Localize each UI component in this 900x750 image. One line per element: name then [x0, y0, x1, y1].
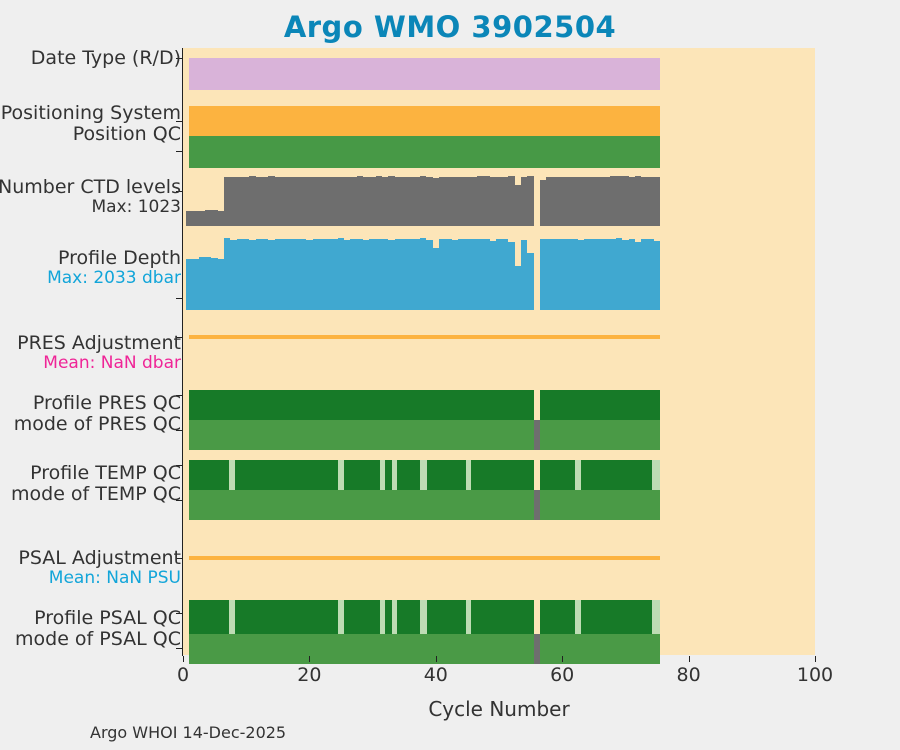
ylabel-number-ctd-levels: Number CTD levels Max: 1023: [0, 177, 181, 217]
qc-segment-alt: [466, 600, 472, 634]
chart-track-profile-pres-qc: [183, 390, 815, 420]
ylabel-text: Profile TEMP QC: [0, 463, 181, 484]
qc-segment-alt: [338, 460, 344, 490]
chart-track-position-qc: [183, 136, 815, 168]
ylabel-pres-adjustment: PRES Adjustment Mean: NaN dbar: [0, 333, 181, 373]
qc-segment: [189, 490, 534, 520]
ylabel-positioning-system: Positioning System Position QC: [0, 103, 181, 146]
footer-credit: Argo WHOI 14-Dec-2025: [90, 723, 286, 742]
chart-track-mode-of-temp-qc: [183, 490, 815, 520]
qc-segment-alt: [380, 600, 384, 634]
qc-segment-alt: [420, 460, 427, 490]
chart-track-profile-temp-qc: [183, 460, 815, 490]
chart-track-psal-adjustment: [183, 556, 815, 560]
qc-segment-alt: [338, 600, 344, 634]
qc-segment-alt: [392, 460, 397, 490]
band-segment: [189, 556, 660, 560]
qc-segment-missing: [534, 420, 540, 450]
qc-segment: [540, 420, 660, 450]
qc-segment-alt: [466, 460, 472, 490]
ylabel-sublabel: Max: 1023: [0, 198, 181, 217]
qc-segment: [540, 460, 660, 490]
qc-segment: [189, 460, 534, 490]
x-axis-tick-label: 60: [550, 664, 574, 686]
qc-segment-alt: [392, 600, 397, 634]
qc-segment: [189, 600, 534, 634]
x-axis-title: Cycle Number: [183, 697, 815, 721]
ylabel-text: Profile PSAL QC: [0, 608, 181, 629]
data-bar: [654, 241, 660, 310]
band-segment: [189, 335, 660, 339]
ylabel-profile-psal-qc: Profile PSAL QC mode of PSAL QC: [0, 608, 181, 651]
page-title: Argo WMO 3902504: [0, 10, 900, 44]
ylabel-text: PRES Adjustment: [0, 333, 181, 354]
x-axis-tick: [562, 656, 563, 662]
qc-segment: [540, 390, 660, 420]
ylabel-sublabel: Max: 2033 dbar: [0, 269, 181, 288]
qc-segment-alt: [575, 600, 581, 634]
qc-segment-missing: [534, 490, 540, 520]
ylabel-sublabel: Mean: NaN PSU: [0, 569, 181, 588]
x-axis-tick-label: 40: [424, 664, 448, 686]
qc-segment-alt: [380, 460, 384, 490]
x-axis-tick-label: 80: [677, 664, 701, 686]
chart-track-profile-depth: [183, 238, 815, 310]
x-axis: 020406080100: [183, 656, 815, 696]
ylabel-text: Number CTD levels: [0, 177, 181, 198]
data-bar: [527, 253, 533, 310]
ylabel-psal-adjustment: PSAL Adjustment Mean: NaN PSU: [0, 548, 181, 588]
ylabel-text: mode of TEMP QC: [0, 484, 181, 505]
x-axis-tick-label: 100: [797, 664, 833, 686]
qc-segment-alt: [229, 460, 235, 490]
ylabel-text: Positioning System: [0, 103, 181, 124]
x-axis-tick: [689, 656, 690, 662]
y-axis-line: [182, 48, 183, 656]
chart-track-mode-of-pres-qc: [183, 420, 815, 450]
qc-segment: [189, 390, 534, 420]
band-segment: [189, 58, 660, 90]
qc-segment: [540, 600, 660, 634]
qc-segment-alt: [652, 600, 660, 634]
chart-plot-area: [183, 48, 815, 655]
chart-track-pres-adjustment: [183, 335, 815, 339]
band-segment: [189, 136, 660, 168]
x-axis-tick: [436, 656, 437, 662]
ylabel-profile-depth: Profile Depth Max: 2033 dbar: [0, 248, 181, 288]
ylabel-profile-temp-qc: Profile TEMP QC mode of TEMP QC: [0, 463, 181, 506]
chart-track-number-ctd-levels: [183, 176, 815, 226]
x-axis-tick: [815, 656, 816, 662]
qc-segment-alt: [420, 600, 427, 634]
ylabel-sublabel: Mean: NaN dbar: [0, 354, 181, 373]
ylabel-text: mode of PRES QC: [0, 414, 181, 435]
x-axis-tick: [309, 656, 310, 662]
ylabel-date-type: Date Type (R/D): [0, 48, 181, 69]
data-bar: [527, 176, 533, 226]
y-axis-tick: [176, 151, 182, 152]
ylabel-text: Profile Depth: [0, 248, 181, 269]
ylabel-text: Position QC: [0, 124, 181, 145]
chart-track-date-type: [183, 58, 815, 90]
ylabel-text: PSAL Adjustment: [0, 548, 181, 569]
band-segment: [189, 106, 660, 136]
chart-track-profile-psal-qc: [183, 600, 815, 634]
x-axis-tick-label: 20: [297, 664, 321, 686]
qc-segment: [540, 490, 660, 520]
qc-segment: [189, 420, 534, 450]
x-axis-tick-label: 0: [177, 664, 189, 686]
ylabel-profile-pres-qc: Profile PRES QC mode of PRES QC: [0, 393, 181, 436]
ylabel-text: Profile PRES QC: [0, 393, 181, 414]
x-axis-tick: [183, 656, 184, 662]
data-bar: [654, 177, 660, 226]
qc-segment-alt: [229, 600, 235, 634]
ylabel-text: Date Type (R/D): [0, 48, 181, 69]
qc-segment-alt: [575, 460, 581, 490]
ylabel-text: mode of PSAL QC: [0, 629, 181, 650]
chart-track-positioning-system: [183, 106, 815, 136]
y-axis-tick: [176, 298, 182, 299]
qc-segment-alt: [652, 460, 660, 490]
